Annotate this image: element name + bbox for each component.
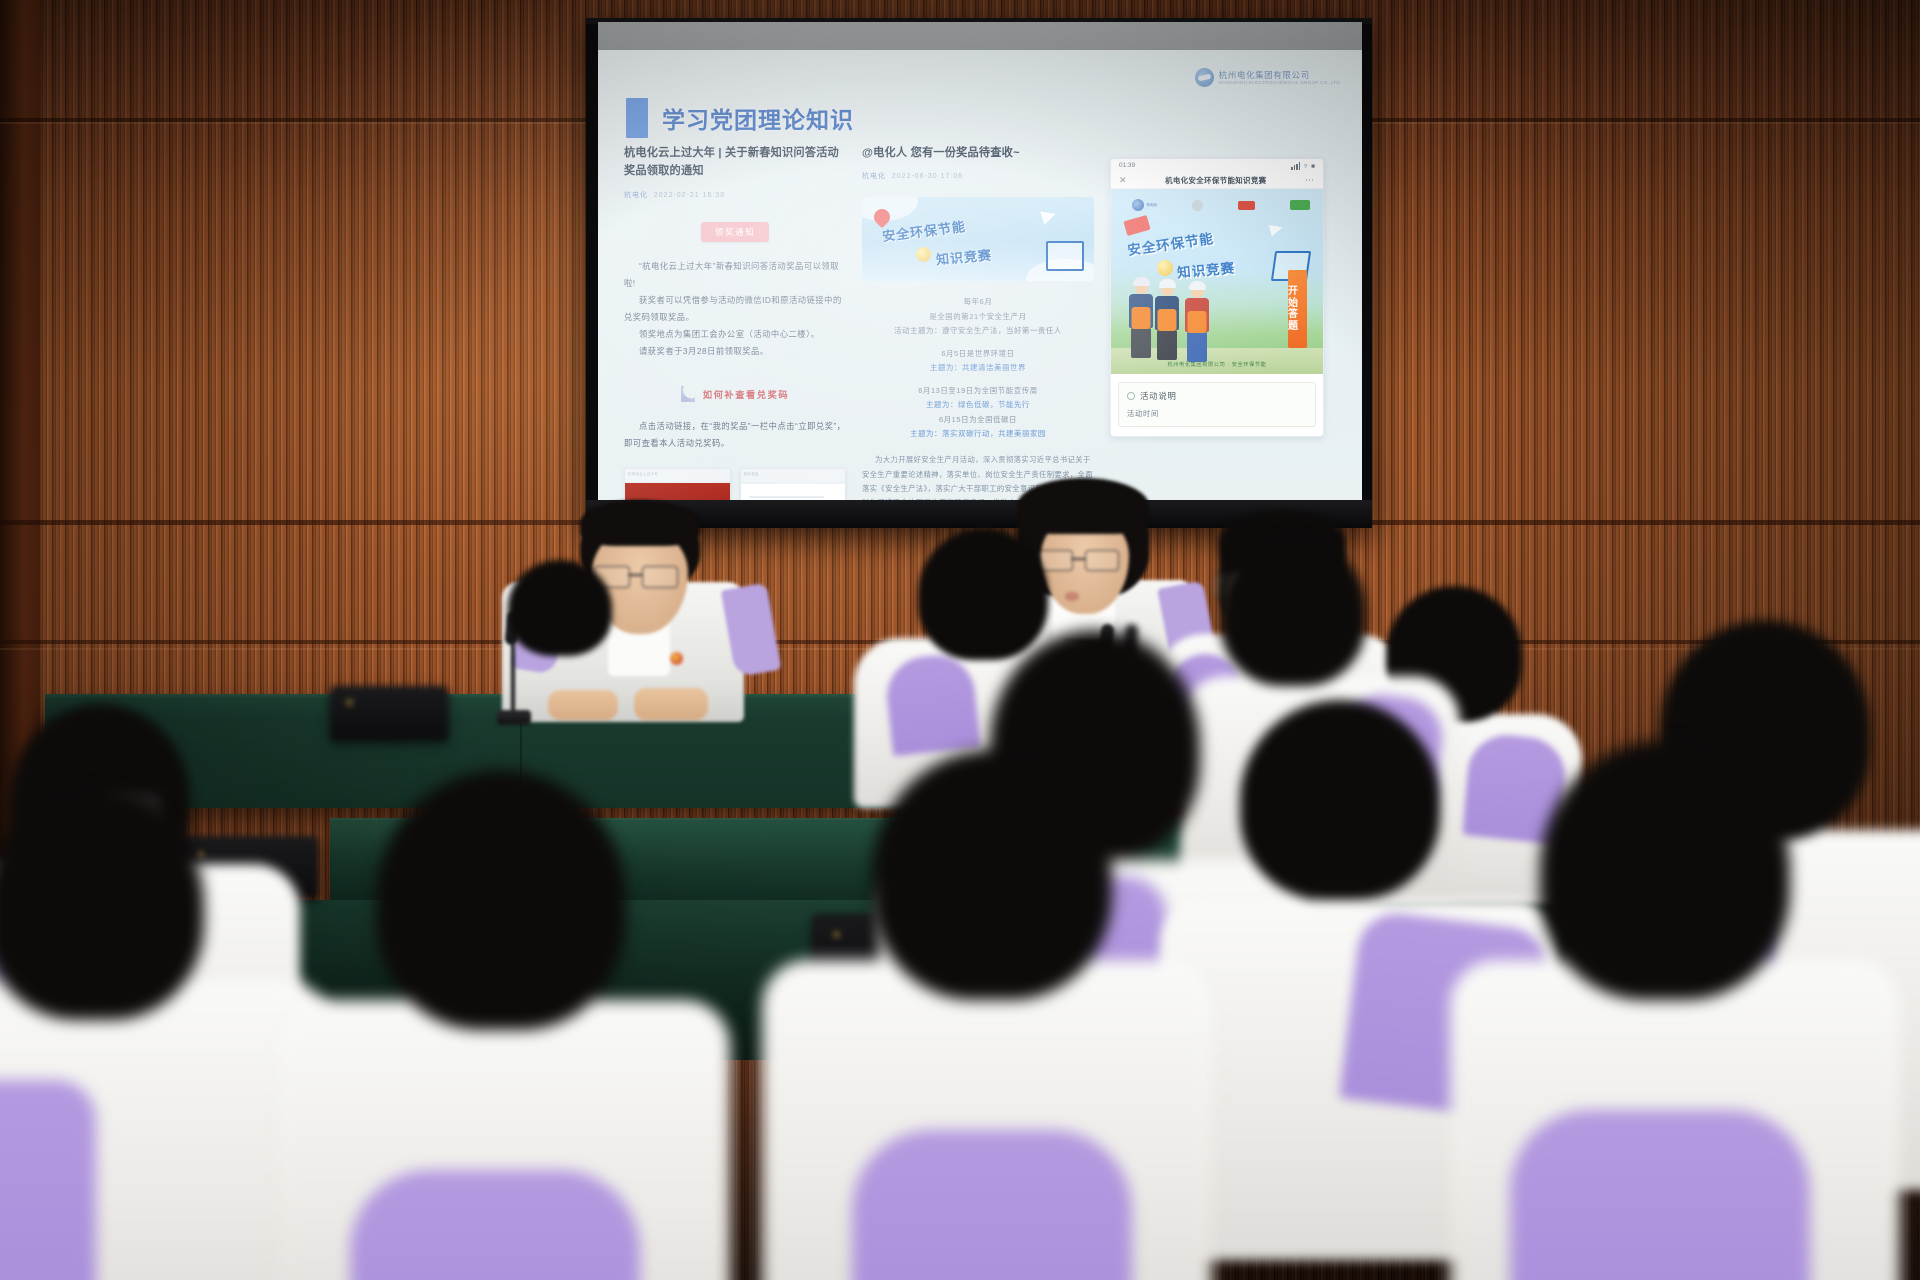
audience-member-near-7 [1480, 740, 1840, 1280]
left-speaker-hand-right [634, 688, 708, 720]
left-speaker-party-badge [670, 652, 683, 665]
audience-hair [0, 790, 204, 1020]
audience-hair [376, 770, 626, 1030]
audience-hair [508, 560, 612, 656]
audience-shoulder-purple [852, 1130, 1132, 1280]
right-speaker-fringe [1017, 478, 1149, 534]
audience-member-near-4 [812, 750, 1162, 1280]
audience-member-near-3 [320, 770, 680, 1280]
audience-hair [872, 750, 1112, 1000]
left-speaker-hand-left [548, 690, 618, 720]
audience-shoulder-purple [350, 1170, 640, 1280]
audience-member-midleft [500, 560, 620, 670]
left-speaker-glasses-right [642, 566, 678, 588]
chair-2 [330, 686, 448, 740]
audience-hair [1540, 740, 1790, 1000]
audience-shoulder-purple [1510, 1110, 1810, 1280]
left-speaker-glasses-bridge [628, 574, 642, 576]
conference-room-scene: 杭州电化集团有限公司 HANGZHOU ELECTROCHEMICAL GROU… [0, 0, 1920, 1280]
audience-member-near-2 [0, 790, 300, 1280]
left-speaker-fringe [580, 500, 700, 546]
microphone-left-base [497, 710, 531, 725]
audience-hair [1240, 700, 1440, 900]
audience-shoulder-purple [0, 1080, 96, 1280]
